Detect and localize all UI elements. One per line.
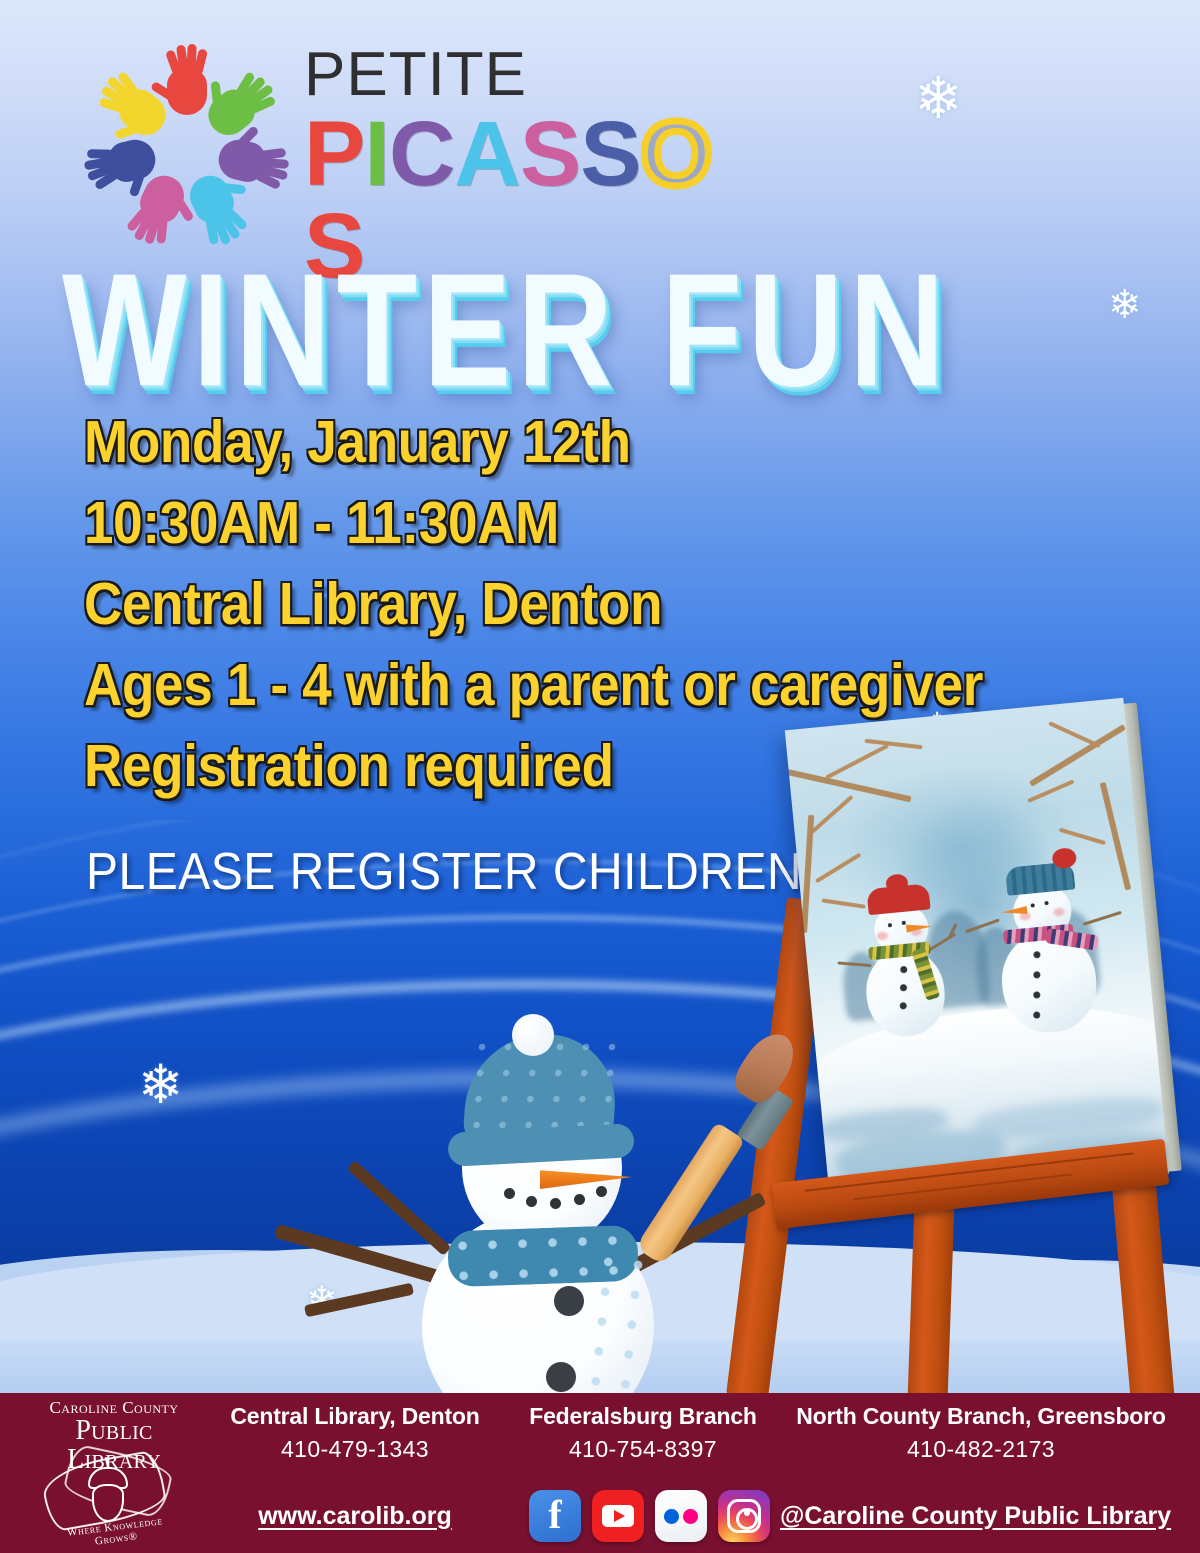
snowflake-icon: ❄ — [914, 70, 963, 128]
acorn-oak-leaf-icon: Where Knowledge Grows® — [38, 1451, 190, 1545]
brand-letter: S — [580, 108, 640, 200]
footer-bottom-row: www.carolib.org @Caroline County Public … — [205, 1485, 1195, 1547]
brand-letter: S — [520, 108, 580, 200]
branch-info: Federalsburg Branch410-754-8397 — [523, 1403, 763, 1463]
snowflake-icon: ❄ — [138, 1058, 183, 1112]
facebook-icon[interactable] — [529, 1490, 581, 1542]
footer-bar: Caroline County Public Library Where Kno… — [0, 1393, 1200, 1553]
branch-name: North County Branch, Greensboro — [781, 1403, 1181, 1430]
youtube-icon[interactable] — [592, 1490, 644, 1542]
painted-snowman-right — [977, 859, 1136, 1071]
brush-bristles — [728, 1025, 804, 1109]
event-detail-line-2: 10:30AM - 11:30AM — [84, 478, 1164, 569]
brand-letter: C — [389, 108, 454, 200]
snowman-button — [546, 1362, 576, 1392]
brand-letter: A — [454, 108, 519, 200]
painted-snowman-left — [841, 886, 978, 1077]
petite-picassos-logo: PETITE PICASSOS — [82, 38, 722, 258]
paintbrush-illustration — [690, 1035, 830, 1265]
brand-letter: I — [364, 108, 389, 200]
social-handle[interactable]: @Caroline County Public Library — [780, 1502, 1171, 1531]
branch-phone[interactable]: 410-479-1343 — [205, 1436, 505, 1463]
event-detail-line-1: Monday, January 12th — [84, 397, 1164, 488]
event-detail-line-3: Central Library, Denton — [84, 559, 1164, 650]
snowman-hat-pompom — [512, 1014, 554, 1056]
page-title: WINTER FUN — [62, 250, 1072, 411]
snowman-button — [554, 1286, 584, 1316]
branch-list: Central Library, Denton410-479-1343Feder… — [205, 1403, 1195, 1463]
social-icons — [529, 1490, 770, 1542]
flickr-icon[interactable] — [655, 1490, 707, 1542]
brand-letter: O — [641, 108, 712, 200]
brand-letter: P — [304, 108, 364, 200]
snowflake-icon: ❄ — [1108, 285, 1142, 325]
branch-name: Central Library, Denton — [205, 1403, 505, 1430]
library-logo: Caroline County Public Library Where Kno… — [26, 1399, 202, 1547]
branch-phone[interactable]: 410-754-8397 — [523, 1436, 763, 1463]
branch-info: Central Library, Denton410-479-1343 — [205, 1403, 505, 1463]
branch-name: Federalsburg Branch — [523, 1403, 763, 1430]
brand-petite-text: PETITE — [304, 44, 724, 106]
canvas-painting — [785, 698, 1169, 1208]
poster-canvas: ❄ ❄ ❄ ❄ ❄ PETITE PICASSOS WINTER FUN Mon… — [0, 0, 1200, 1553]
branch-phone[interactable]: 410-482-2173 — [781, 1436, 1181, 1463]
branch-info: North County Branch, Greensboro410-482-2… — [781, 1403, 1181, 1463]
instagram-icon[interactable] — [718, 1490, 770, 1542]
handprints-icon — [82, 42, 292, 254]
website-link[interactable]: www.carolib.org — [205, 1502, 505, 1531]
